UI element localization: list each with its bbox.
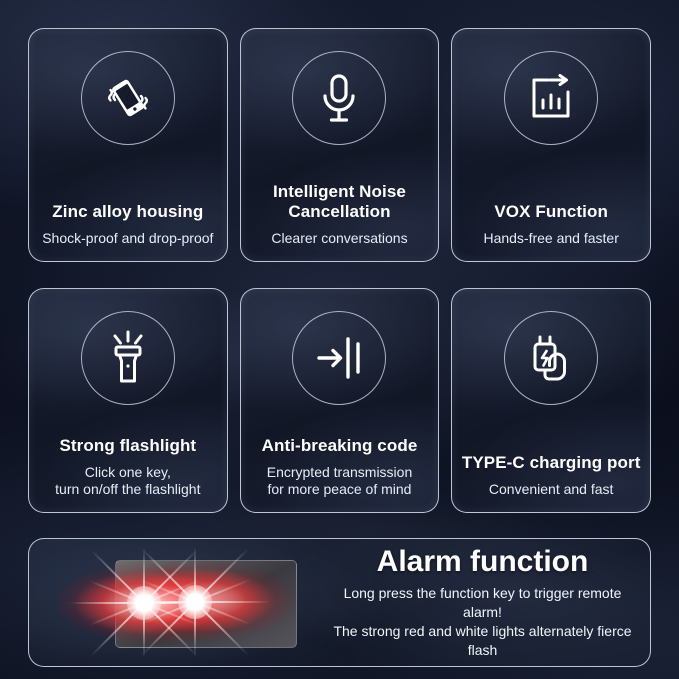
arrow-into-bars-icon bbox=[292, 311, 386, 405]
chart-arrow-icon bbox=[504, 51, 598, 145]
feature-card-noise-cancellation[interactable]: Intelligent Noise Cancellation Clearer c… bbox=[240, 28, 440, 262]
feature-subtitle: Click one key, turn on/off the flashligh… bbox=[35, 464, 221, 498]
alarm-title: Alarm function bbox=[329, 545, 636, 578]
alarm-function-panel[interactable]: Alarm function Long press the function k… bbox=[28, 538, 651, 667]
power-plug-icon bbox=[504, 311, 598, 405]
feature-title: VOX Function bbox=[458, 202, 644, 222]
feature-title: Anti-breaking code bbox=[247, 436, 433, 456]
feature-subtitle: Hands-free and faster bbox=[458, 230, 644, 247]
feature-title: Intelligent Noise Cancellation bbox=[247, 182, 433, 222]
feature-card-zinc-alloy-housing[interactable]: Zinc alloy housing Shock-proof and drop-… bbox=[28, 28, 228, 262]
red-glow bbox=[49, 543, 311, 663]
alarm-description-line-1: Long press the function key to trigger r… bbox=[329, 584, 636, 622]
feature-card-typec-charging-port[interactable]: TYPE-C charging port Convenient and fast bbox=[451, 288, 651, 513]
feature-card-strong-flashlight[interactable]: Strong flashlight Click one key, turn on… bbox=[28, 288, 228, 513]
feature-subtitle: Clearer conversations bbox=[247, 230, 433, 247]
alarm-text-block: Alarm function Long press the function k… bbox=[329, 545, 650, 660]
feature-title: Zinc alloy housing bbox=[35, 202, 221, 222]
feature-title: Strong flashlight bbox=[35, 436, 221, 456]
alarm-description-line-2: The strong red and white lights alternat… bbox=[329, 622, 636, 660]
feature-subtitle: Shock-proof and drop-proof bbox=[35, 230, 221, 247]
feature-card-text: VOX Function Hands-free and faster bbox=[452, 202, 650, 247]
feature-card-anti-breaking-code[interactable]: Anti-breaking code Encrypted transmissio… bbox=[240, 288, 440, 513]
red-white-flashing-light-photo bbox=[29, 538, 329, 667]
feature-card-text: Intelligent Noise Cancellation Clearer c… bbox=[241, 182, 439, 247]
feature-card-text: Strong flashlight Click one key, turn on… bbox=[29, 436, 227, 498]
feature-card-text: Zinc alloy housing Shock-proof and drop-… bbox=[29, 202, 227, 247]
microphone-icon bbox=[292, 51, 386, 145]
feature-card-vox-function[interactable]: VOX Function Hands-free and faster bbox=[451, 28, 651, 262]
flashlight-icon bbox=[81, 311, 175, 405]
feature-grid: Zinc alloy housing Shock-proof and drop-… bbox=[28, 28, 651, 513]
feature-title: TYPE-C charging port bbox=[458, 453, 644, 473]
feature-subtitle: Encrypted transmission for more peace of… bbox=[247, 464, 433, 498]
feature-card-text: TYPE-C charging port Convenient and fast bbox=[452, 453, 650, 498]
feature-card-text: Anti-breaking code Encrypted transmissio… bbox=[241, 436, 439, 498]
feature-subtitle: Convenient and fast bbox=[458, 481, 644, 498]
vibrating-phone-icon bbox=[81, 51, 175, 145]
